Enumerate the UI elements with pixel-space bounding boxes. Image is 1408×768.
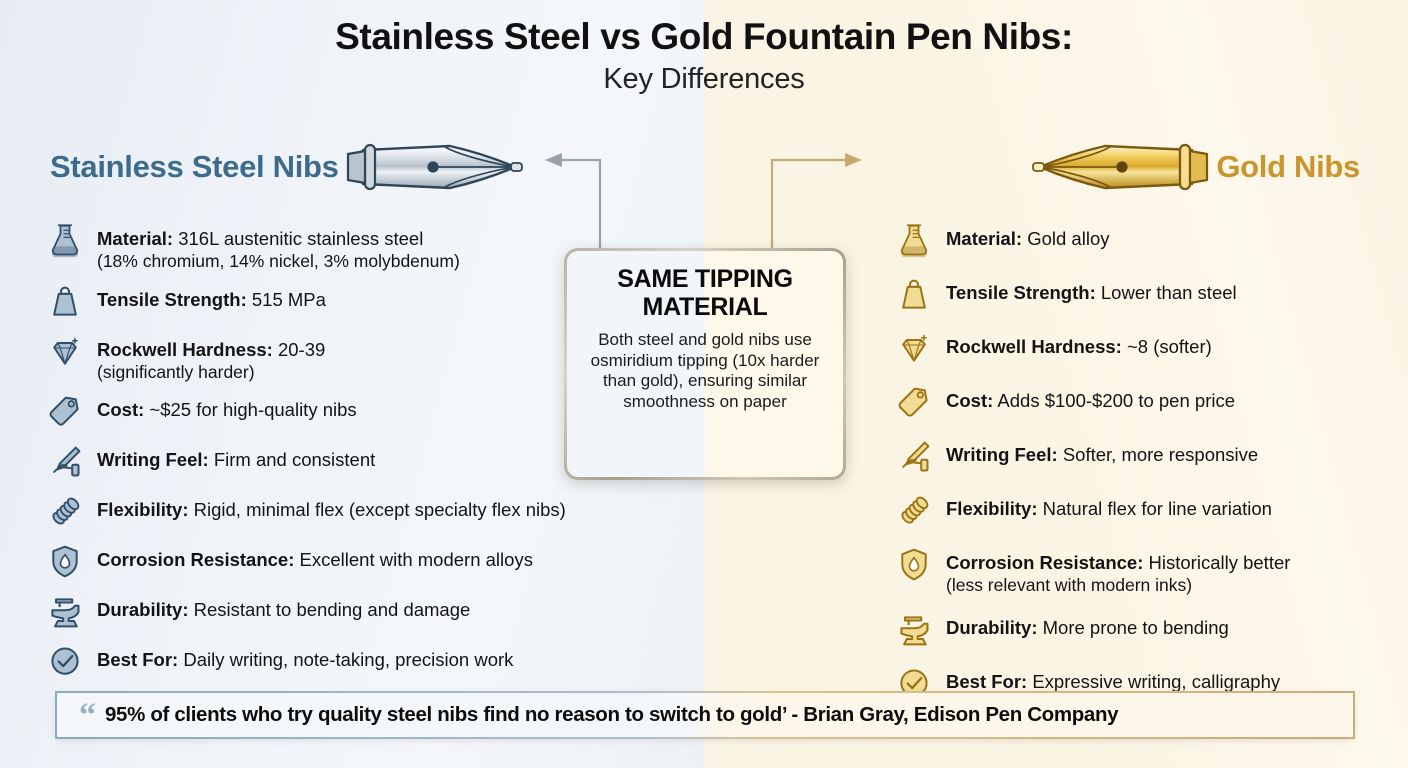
feature-text: Flexibility: Rigid, minimal flex (except… [97, 493, 566, 522]
feature-label: Tensile Strength: [97, 289, 247, 310]
feature-value: Gold alloy [1027, 228, 1109, 249]
feature-row: Flexibility: Natural flex for line varia… [893, 492, 1393, 532]
page-title: Stainless Steel vs Gold Fountain Pen Nib… [0, 16, 1408, 59]
shield-drop-icon [47, 544, 83, 580]
feature-row: Material: Gold alloy [893, 222, 1393, 262]
feature-row: Durability: Resistant to bending and dam… [44, 593, 674, 633]
gold-nib-illustration [1030, 136, 1210, 198]
feature-value: Historically better [1149, 552, 1291, 573]
feature-label: Corrosion Resistance: [946, 552, 1143, 573]
header: Stainless Steel vs Gold Fountain Pen Nib… [0, 16, 1408, 96]
feature-value: Resistant to bending and damage [194, 599, 471, 620]
shield-drop-icon [896, 547, 932, 583]
spring-icon [893, 490, 935, 532]
feature-text: Corrosion Resistance: Historically bette… [946, 546, 1290, 597]
feature-value: More prone to bending [1043, 617, 1229, 638]
weight-icon [47, 284, 83, 320]
feature-row: Rockwell Hardness: ~8 (softer) [893, 330, 1393, 370]
price-tag-icon [47, 394, 83, 430]
writing-hand-icon [47, 444, 83, 480]
feature-row: Tensile Strength: Lower than steel [893, 276, 1393, 316]
feature-subtext: (significantly harder) [97, 362, 325, 384]
steel-heading-label: Stainless Steel Nibs [50, 149, 339, 185]
feature-value: 20-39 [278, 339, 325, 360]
gold-column-heading: Gold Nibs [1030, 136, 1360, 198]
writing-hand-icon [896, 439, 932, 475]
flask-icon [893, 220, 935, 262]
feature-value: Expressive writing, calligraphy [1032, 671, 1280, 692]
feature-value: Excellent with modern alloys [300, 549, 533, 570]
feature-value: Natural flex for line variation [1043, 498, 1272, 519]
feature-row: Writing Feel: Softer, more responsive [893, 438, 1393, 478]
feature-text: Flexibility: Natural flex for line varia… [946, 492, 1272, 521]
flask-icon [896, 223, 932, 259]
anvil-icon [893, 609, 935, 651]
feature-text: Tensile Strength: Lower than steel [946, 276, 1237, 305]
feature-text: Best For: Daily writing, note-taking, pr… [97, 643, 513, 672]
feature-value: Softer, more responsive [1063, 444, 1258, 465]
spring-icon [44, 491, 86, 533]
feature-label: Rockwell Hardness: [97, 339, 273, 360]
feature-value: Lower than steel [1101, 282, 1237, 303]
feature-label: Tensile Strength: [946, 282, 1096, 303]
feature-subtext: (18% chromium, 14% nickel, 3% molybdenum… [97, 251, 460, 273]
shield-drop-icon [44, 541, 86, 583]
feature-text: Corrosion Resistance: Excellent with mod… [97, 543, 533, 572]
feature-label: Flexibility: [946, 498, 1038, 519]
gold-heading-label: Gold Nibs [1216, 149, 1360, 185]
feature-text: Best For: Expressive writing, calligraph… [946, 665, 1280, 694]
gold-feature-list: Material: Gold alloy Tensile Strength: L… [893, 222, 1393, 719]
flask-icon [47, 223, 83, 259]
check-circle-icon [47, 644, 83, 680]
feature-label: Best For: [97, 649, 178, 670]
flask-icon [44, 220, 86, 262]
feature-text: Writing Feel: Softer, more responsive [946, 438, 1258, 467]
feature-value: Rigid, minimal flex (except specialty fl… [194, 499, 566, 520]
feature-text: Durability: More prone to bending [946, 611, 1229, 640]
diamond-icon [893, 328, 935, 370]
shield-drop-icon [893, 544, 935, 586]
callout-body: Both steel and gold nibs use osmiridium … [579, 330, 831, 413]
feature-row: Corrosion Resistance: Historically bette… [893, 546, 1393, 597]
weight-icon [893, 274, 935, 316]
feature-row: Best For: Daily writing, note-taking, pr… [44, 643, 674, 683]
feature-subtext: (less relevant with modern inks) [946, 575, 1290, 597]
anvil-icon [44, 591, 86, 633]
feature-text: Material: Gold alloy [946, 222, 1109, 251]
feature-text: Tensile Strength: 515 MPa [97, 283, 326, 312]
feature-text: Rockwell Hardness: 20-39(significantly h… [97, 333, 325, 384]
weight-icon [896, 277, 932, 313]
price-tag-icon [896, 385, 932, 421]
feature-value: ~$25 for high-quality nibs [149, 399, 356, 420]
feature-text: Writing Feel: Firm and consistent [97, 443, 375, 472]
feature-label: Corrosion Resistance: [97, 549, 294, 570]
page-subtitle: Key Differences [0, 63, 1408, 96]
feature-row: Corrosion Resistance: Excellent with mod… [44, 543, 674, 583]
feature-value: 316L austenitic stainless steel [178, 228, 423, 249]
feature-value: 515 MPa [252, 289, 326, 310]
same-tipping-callout: SAME TIPPING MATERIAL Both steel and gol… [564, 248, 846, 480]
feature-label: Best For: [946, 671, 1027, 692]
feature-label: Material: [946, 228, 1022, 249]
feature-value: ~8 (softer) [1127, 336, 1212, 357]
writing-hand-icon [893, 436, 935, 478]
callout-title: SAME TIPPING MATERIAL [579, 266, 831, 321]
quote-banner: “ 95% of clients who try quality steel n… [55, 691, 1355, 739]
feature-label: Flexibility: [97, 499, 189, 520]
feature-text: Rockwell Hardness: ~8 (softer) [946, 330, 1212, 359]
feature-text: Durability: Resistant to bending and dam… [97, 593, 470, 622]
feature-value: Firm and consistent [214, 449, 375, 470]
feature-text: Cost: Adds $100-$200 to pen price [946, 384, 1235, 413]
feature-row: Durability: More prone to bending [893, 611, 1393, 651]
writing-hand-icon [44, 441, 86, 483]
feature-label: Rockwell Hardness: [946, 336, 1122, 357]
quote-text: 95% of clients who try quality steel nib… [105, 703, 1118, 727]
diamond-icon [896, 331, 932, 367]
price-tag-icon [44, 391, 86, 433]
feature-label: Writing Feel: [97, 449, 209, 470]
feature-value: Adds $100-$200 to pen price [997, 390, 1235, 411]
spring-icon [896, 493, 932, 529]
anvil-icon [896, 612, 932, 648]
check-circle-icon [44, 641, 86, 683]
feature-text: Cost: ~$25 for high-quality nibs [97, 393, 357, 422]
weight-icon [44, 281, 86, 323]
feature-text: Material: 316L austenitic stainless stee… [97, 222, 460, 273]
feature-label: Writing Feel: [946, 444, 1058, 465]
feature-label: Cost: [97, 399, 144, 420]
feature-label: Cost: [946, 390, 993, 411]
feature-label: Material: [97, 228, 173, 249]
steel-nib-illustration [345, 136, 525, 198]
spring-icon [47, 494, 83, 530]
feature-label: Durability: [946, 617, 1037, 638]
quote-mark-icon: “ [79, 707, 96, 726]
feature-label: Durability: [97, 599, 188, 620]
diamond-icon [44, 331, 86, 373]
feature-value: Daily writing, note-taking, precision wo… [183, 649, 513, 670]
anvil-icon [47, 594, 83, 630]
diamond-icon [47, 334, 83, 370]
feature-row: Cost: Adds $100-$200 to pen price [893, 384, 1393, 424]
steel-column-heading: Stainless Steel Nibs [50, 136, 525, 198]
feature-row: Flexibility: Rigid, minimal flex (except… [44, 493, 674, 533]
price-tag-icon [893, 382, 935, 424]
